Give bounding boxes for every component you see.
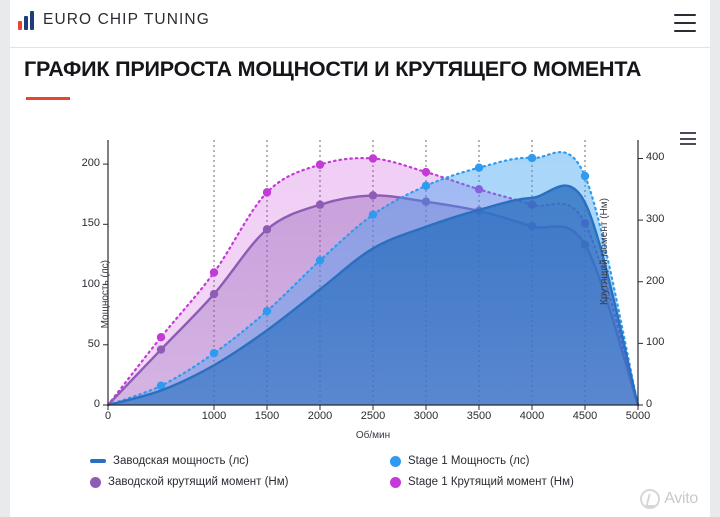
x-axis-tick: 1500	[255, 410, 279, 422]
x-axis-tick: 2000	[308, 410, 332, 422]
x-axis-tick: 0	[105, 410, 111, 422]
brand-logo[interactable]: EURO CHIP TUNING	[18, 10, 210, 30]
page-title: ГРАФИК ПРИРОСТА МОЩНОСТИ И КРУТЯЩЕГО МОМ…	[24, 57, 696, 82]
legend-column-left: Заводская мощность (лс)Заводской крутящи…	[90, 455, 288, 497]
bar-logo-icon	[18, 10, 34, 30]
legend-marker-icon	[390, 477, 401, 488]
x-axis-label: Об/мин	[108, 430, 638, 441]
page-container: EURO CHIP TUNING ГРАФИК ПРИРОСТА МОЩНОСТ…	[10, 0, 710, 517]
chart-plot-area: Мощность (лс) Крутящий момент (Нм) Об/ми…	[108, 140, 638, 405]
chart-svg	[108, 140, 638, 405]
legend-item[interactable]: Заводская мощность (лс)	[90, 455, 288, 467]
hamburger-icon[interactable]	[674, 14, 696, 32]
legend-item[interactable]: Stage 1 Мощность (лс)	[390, 455, 574, 467]
avito-circle-icon	[640, 489, 660, 509]
x-axis-tick: 2500	[361, 410, 385, 422]
legend-label: Stage 1 Мощность (лс)	[408, 455, 529, 467]
x-axis-tick: 1000	[202, 410, 226, 422]
chart-container: Мощность (лс) Крутящий момент (Нм) Об/ми…	[10, 112, 710, 462]
x-axis-tick: 4500	[573, 410, 597, 422]
legend-item[interactable]: Stage 1 Крутящий момент (Нм)	[390, 476, 574, 488]
title-underline	[26, 97, 70, 100]
y2-axis-tick: 0	[646, 398, 706, 410]
legend-marker-icon	[90, 477, 101, 488]
legend-marker-icon	[390, 456, 401, 467]
y-axis-tick: 200	[40, 157, 100, 169]
avito-watermark-text: Avito	[664, 490, 698, 508]
x-axis-tick: 5000	[626, 410, 650, 422]
legend-column-right: Stage 1 Мощность (лс)Stage 1 Крутящий мо…	[390, 455, 574, 497]
y2-axis-tick: 200	[646, 275, 706, 287]
y-axis-tick: 100	[40, 278, 100, 290]
y-axis-tick: 50	[40, 338, 100, 350]
legend-item[interactable]: Заводской крутящий момент (Нм)	[90, 476, 288, 488]
x-axis-tick: 3500	[467, 410, 491, 422]
site-header: EURO CHIP TUNING	[10, 0, 710, 48]
y-axis-tick: 0	[40, 398, 100, 410]
x-axis-tick: 3000	[414, 410, 438, 422]
brand-name: EURO CHIP TUNING	[43, 11, 210, 29]
legend-marker-icon	[90, 459, 106, 463]
y2-axis-tick: 300	[646, 213, 706, 225]
legend-label: Заводская мощность (лс)	[113, 455, 249, 467]
legend-label: Stage 1 Крутящий момент (Нм)	[408, 476, 574, 488]
y2-axis-label: Крутящий момент (Нм)	[599, 198, 610, 305]
y2-axis-tick: 400	[646, 151, 706, 163]
chart-menu-icon[interactable]	[680, 132, 696, 145]
y-axis-tick: 150	[40, 217, 100, 229]
x-axis-tick: 4000	[520, 410, 544, 422]
avito-watermark: Avito	[640, 489, 698, 509]
legend-label: Заводской крутящий момент (Нм)	[108, 476, 288, 488]
y-axis-label: Мощность (лс)	[100, 260, 111, 328]
y2-axis-tick: 100	[646, 336, 706, 348]
chart-legend: Заводская мощность (лс)Заводской крутящи…	[10, 455, 710, 511]
